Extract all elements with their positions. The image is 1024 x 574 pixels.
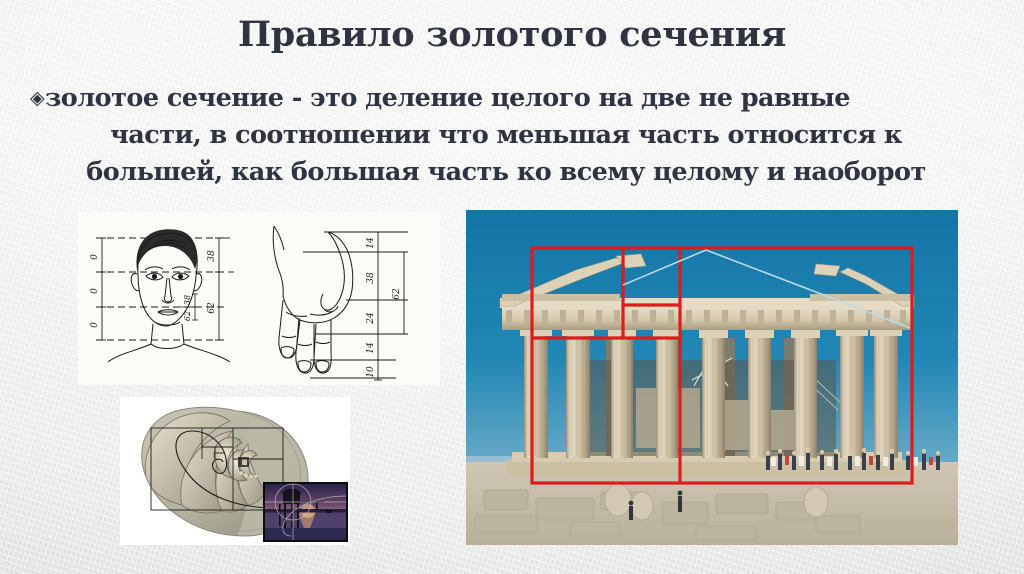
- shell-svg: [120, 397, 350, 545]
- hand-label-38: 38: [366, 272, 376, 284]
- proportions-svg: 0 0 0 38 62 38 62 14 38 62 24 14 10: [78, 212, 440, 385]
- human-proportions-diagram: 0 0 0 38 62 38 62 14 38 62 24 14 10: [78, 212, 440, 385]
- bullet-line-1-text: золотое сечение - это деление целого на …: [45, 83, 850, 113]
- bullet-line-2: части, в соотношении что меньшая часть о…: [22, 117, 990, 154]
- face-label-inner-62: 62: [183, 311, 192, 321]
- face-label-left-2: 0: [90, 288, 100, 294]
- nautilus-golden-spiral: [120, 397, 350, 545]
- face-label-38: 38: [207, 250, 217, 262]
- bullet-line-3: большей, как большая часть ко всему цело…: [22, 154, 990, 191]
- bullet-line-1: ◈золотое сечение - это деление целого на…: [22, 80, 990, 117]
- parthenon-svg: [466, 210, 958, 545]
- face-label-left-3: 0: [90, 322, 100, 328]
- face-label-left-1: 0: [90, 254, 100, 260]
- pier-sunset-golden-spiral: [263, 482, 348, 542]
- hand-label-14-top: 14: [366, 237, 376, 249]
- diamond-bullet-icon: ◈: [30, 87, 44, 109]
- hand-label-62: 62: [392, 288, 402, 300]
- parthenon-golden-rectangles: [466, 210, 958, 545]
- hand-label-10: 10: [366, 366, 376, 378]
- page-title: Правило золотого сечения: [0, 14, 1024, 55]
- hand-label-14-low: 14: [366, 342, 376, 354]
- slide-canvas: Правило золотого сечения ◈золотое сечени…: [0, 0, 1024, 574]
- face-label-62: 62: [207, 302, 217, 314]
- bullet-paragraph: ◈золотое сечение - это деление целого на…: [22, 80, 990, 191]
- face-label-inner-38: 38: [183, 295, 192, 305]
- hand-label-24: 24: [366, 312, 376, 325]
